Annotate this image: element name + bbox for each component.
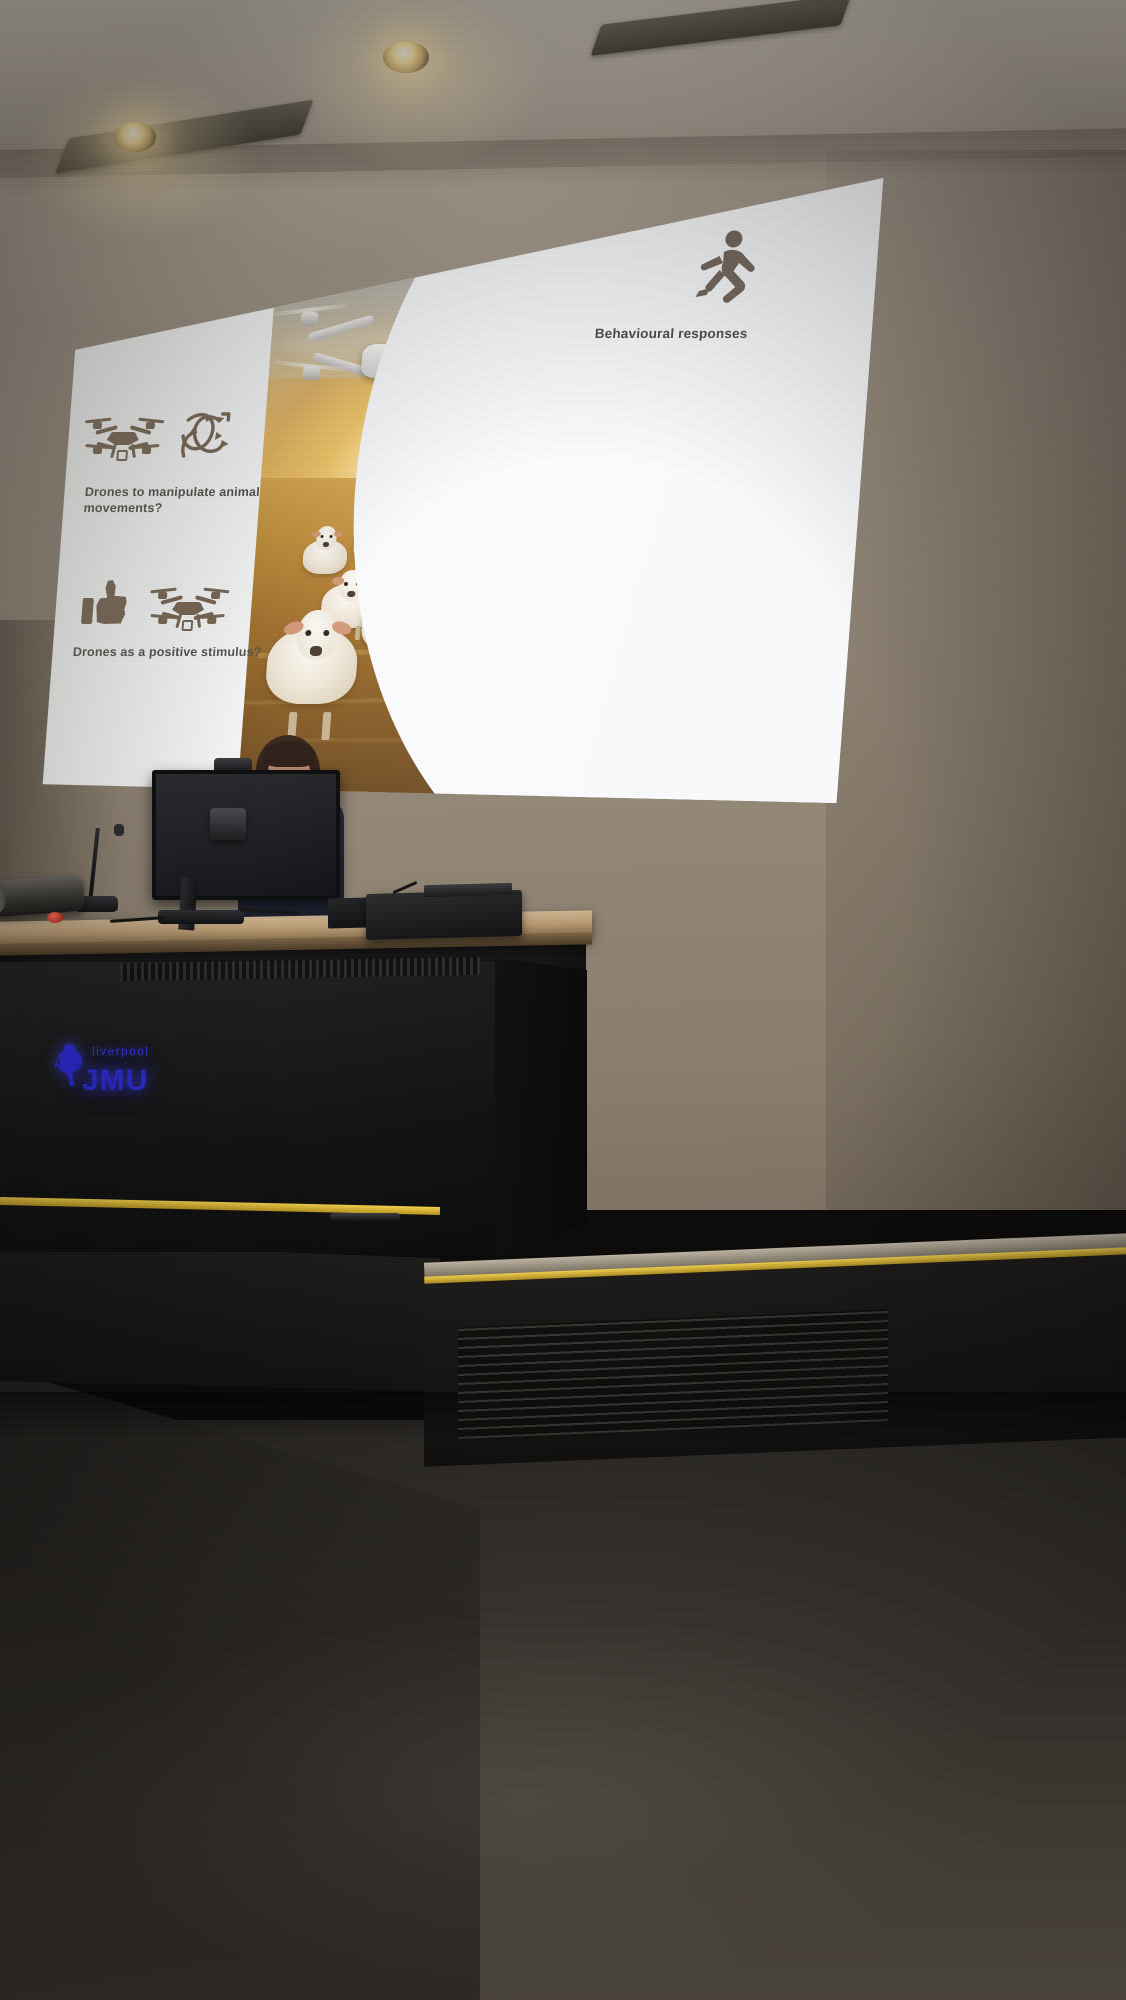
jmu-logo: liverpool JMU [30,1030,180,1100]
monitor-screen [152,770,340,900]
slide-right-panel [323,178,884,803]
stage-vent-grille [458,1309,888,1439]
cloud [369,190,563,242]
av-small-box [328,897,370,928]
monitor [152,770,332,920]
lectern-lower-vent [330,1213,400,1221]
slide-caption-1: Drones to manipulate animal movements? [83,484,300,516]
av-control-box [366,890,522,940]
projection-area: Questions Generated with ChatGPT (OpenAI… [32,178,884,803]
slide-caption-3: Behavioural responses [594,326,855,341]
downlight-left [114,122,156,152]
cloud [257,218,410,264]
downlight-right [383,41,429,73]
jmu-logo-sub: liverpool [92,1044,149,1058]
microphone-head [114,824,124,836]
drone-icon [89,414,157,464]
drone-icon [154,584,222,634]
loudspeaker [0,875,85,917]
liverbird-icon [52,1042,86,1088]
document-camera [210,808,246,840]
slide-caption-2: Drones as a positive stimulus? [72,644,288,660]
av-control-box-lid [424,883,512,897]
lecture-theatre-photo: Questions Generated with ChatGPT (OpenAI… [0,0,1126,2000]
status-indicator [47,912,63,923]
lectern-side-panel [495,958,587,1258]
thumbs-up-icon [81,578,133,626]
running-person-icon [689,230,767,310]
presentation-slide: Questions Generated with ChatGPT (OpenAI… [32,178,884,803]
movement-arrows-icon [169,410,235,464]
jmu-logo-word: JMU [82,1064,148,1098]
slide-item-2: Drones as a positive stimulus? [72,576,293,660]
presenter-fringe [263,741,315,767]
monitor-base [158,910,244,924]
floor-reflection [0,1500,1126,2000]
slide-item-1: Drones to manipulate animal movements? [83,410,306,516]
